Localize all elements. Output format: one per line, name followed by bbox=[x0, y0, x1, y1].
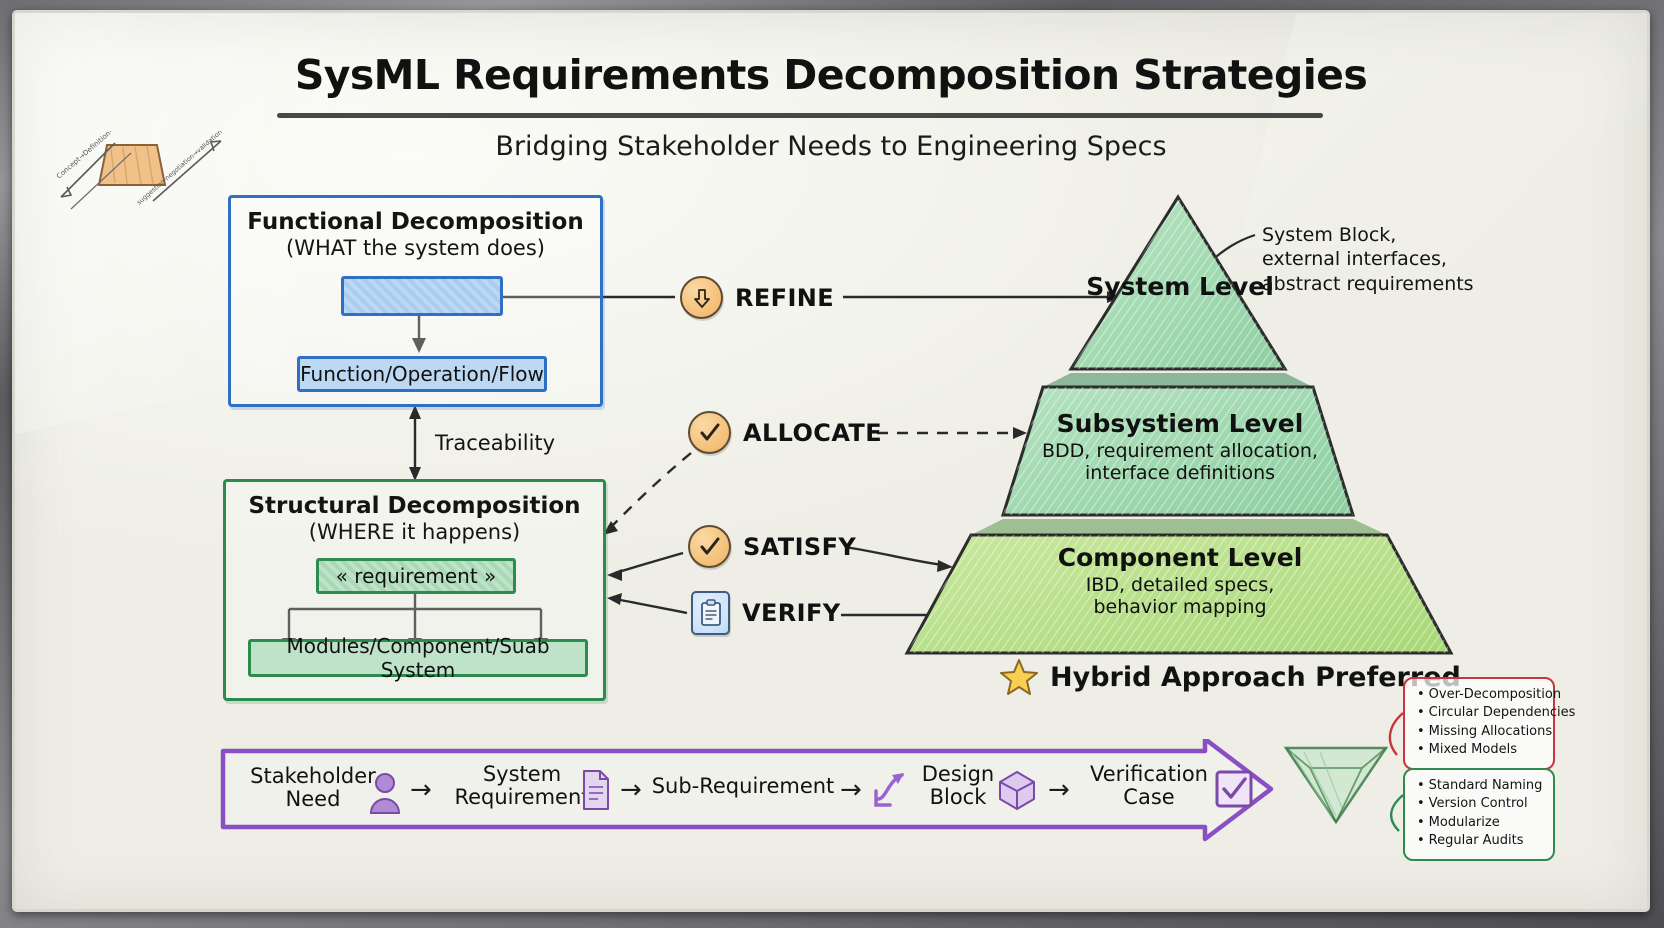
page-title: SysML Requirements Decomposition Strateg… bbox=[15, 51, 1647, 99]
title-underline bbox=[277, 113, 1323, 118]
flow-step-system-requirement[interactable]: System Requirement bbox=[442, 763, 602, 809]
flow-step-sub-requirement[interactable]: Sub-Requirement bbox=[648, 775, 838, 798]
functional-leaf-block[interactable]: Function/Operation/Flow bbox=[297, 356, 547, 392]
flow-arrow-2: → bbox=[620, 775, 642, 805]
structural-leaf-block[interactable]: Modules/Component/Suab System bbox=[248, 639, 588, 677]
relationship-allocate[interactable]: ALLOCATE bbox=[688, 411, 882, 454]
flow-arrow-3: → bbox=[840, 775, 862, 805]
pyramid-level-subsystem-title: Subsystiem Level bbox=[895, 409, 1465, 438]
relationship-verify-label: VERIFY bbox=[742, 599, 841, 627]
relationship-refine-label: REFINE bbox=[735, 284, 834, 312]
structural-panel-title: Structural Decomposition bbox=[226, 493, 603, 519]
down-arrow-icon bbox=[680, 276, 723, 319]
best-practices-note-list: Standard Naming Version Control Modulari… bbox=[1417, 777, 1543, 851]
functional-panel-subtitle: (WHAT the system does) bbox=[231, 236, 600, 260]
flow-arrow-1: → bbox=[410, 775, 432, 805]
whiteboard-frame: SysML Requirements Decomposition Strateg… bbox=[0, 0, 1664, 928]
requirement-stereotype-block[interactable]: « requirement » bbox=[316, 558, 516, 594]
whiteboard-surface: SysML Requirements Decomposition Strateg… bbox=[12, 10, 1650, 912]
best-practice-item: Regular Audits bbox=[1417, 832, 1543, 850]
structural-decomposition-panel[interactable]: Structural Decomposition (WHERE it happe… bbox=[223, 479, 606, 701]
risks-note-list: Over-Decomposition Circular Dependencies… bbox=[1417, 686, 1543, 760]
risks-item: Circular Dependencies bbox=[1417, 704, 1543, 722]
gem-sketch-doodle bbox=[1280, 738, 1392, 826]
functional-panel-title: Functional Decomposition bbox=[231, 209, 600, 235]
flow-arrow-4: → bbox=[1048, 775, 1070, 805]
page-subtitle: Bridging Stakeholder Needs to Engineerin… bbox=[15, 131, 1647, 162]
star-icon bbox=[1000, 658, 1038, 696]
best-practices-note[interactable]: Standard Naming Version Control Modulari… bbox=[1403, 768, 1555, 861]
hybrid-approach-callout: Hybrid Approach Preferred bbox=[1000, 658, 1461, 696]
pyramid-level-component: Component Level IBD, detailed specs, beh… bbox=[895, 543, 1465, 619]
corner-sketch-doodle: Concept→Definition→details suggestion-ne… bbox=[53, 131, 253, 211]
functional-decomposition-panel[interactable]: Functional Decomposition (WHAT the syste… bbox=[228, 195, 603, 407]
risks-item: Mixed Models bbox=[1417, 741, 1543, 759]
process-flow-steps: Stakeholder Need → System Requirement → … bbox=[220, 741, 1275, 841]
flow-step-stakeholder-need[interactable]: Stakeholder Need bbox=[238, 765, 388, 811]
hybrid-approach-label: Hybrid Approach Preferred bbox=[1050, 662, 1461, 693]
relationship-allocate-label: ALLOCATE bbox=[743, 419, 882, 447]
person-icon bbox=[368, 771, 402, 815]
flow-step-verification-case[interactable]: Verification Case bbox=[1074, 763, 1224, 809]
functional-root-block[interactable] bbox=[341, 276, 503, 316]
risks-note[interactable]: Over-Decomposition Circular Dependencies… bbox=[1403, 677, 1555, 770]
structural-panel-subtitle: (WHERE it happens) bbox=[226, 520, 603, 544]
pyramid-callout-text: System Block, external interfaces, abstr… bbox=[1262, 223, 1474, 296]
checkbox-icon bbox=[1214, 769, 1254, 809]
relationship-refine[interactable]: REFINE bbox=[680, 276, 834, 319]
relationship-satisfy[interactable]: SATISFY bbox=[688, 525, 856, 568]
best-practice-item: Standard Naming bbox=[1417, 777, 1543, 795]
document-icon bbox=[580, 769, 612, 811]
pyramid-level-subsystem: Subsystiem Level BDD, requirement alloca… bbox=[895, 409, 1465, 485]
cube-icon bbox=[996, 769, 1038, 811]
clipboard-icon bbox=[691, 591, 730, 635]
check-circle-icon bbox=[688, 525, 731, 568]
pyramid-level-component-title: Component Level bbox=[895, 543, 1465, 572]
pyramid-level-component-detail: IBD, detailed specs, behavior mapping bbox=[895, 574, 1465, 619]
risks-item: Missing Allocations bbox=[1417, 723, 1543, 741]
relationship-verify[interactable]: VERIFY bbox=[691, 591, 841, 635]
best-practice-item: Version Control bbox=[1417, 795, 1543, 813]
check-circle-icon bbox=[688, 411, 731, 454]
relationship-satisfy-label: SATISFY bbox=[743, 533, 856, 561]
pyramid-level-subsystem-detail: BDD, requirement allocation, interface d… bbox=[895, 440, 1465, 485]
risks-item: Over-Decomposition bbox=[1417, 686, 1543, 704]
best-practice-item: Modularize bbox=[1417, 814, 1543, 832]
traceability-label: Traceability bbox=[435, 431, 555, 455]
